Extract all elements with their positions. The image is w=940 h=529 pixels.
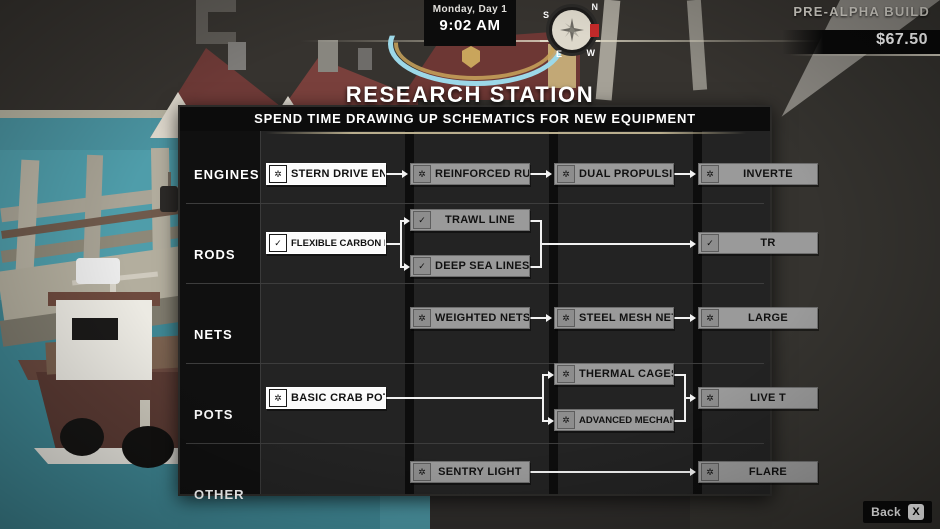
row-label-rods: RODS xyxy=(194,247,236,262)
node-weighted-nets[interactable]: ✲ WEIGHTED NETS xyxy=(410,307,530,329)
node-label: TRAWL LINE xyxy=(431,214,529,226)
connector-arrow xyxy=(690,314,696,322)
node-deep-sea-lines[interactable]: ✓ DEEP SEA LINES xyxy=(410,255,530,277)
gear-icon: ✲ xyxy=(701,463,719,481)
connector-arrow xyxy=(546,314,552,322)
research-panel: SPEND TIME DRAWING UP SCHEMATICS FOR NEW… xyxy=(178,105,772,496)
gear-icon: ✲ xyxy=(557,165,575,183)
node-dual-propulsion[interactable]: ✲ DUAL PROPULSION xyxy=(554,163,674,185)
node-live-tank[interactable]: ✲ LIVE T xyxy=(698,387,818,409)
node-sentry-light[interactable]: ✲ SENTRY LIGHT xyxy=(410,461,530,483)
connector-arrow xyxy=(546,170,552,178)
build-tag: PRE-ALPHA BUILD xyxy=(793,4,930,19)
node-label: LARGE xyxy=(719,312,817,324)
node-advanced-mechanisms[interactable]: ✲ ADVANCED MECHANISMS xyxy=(554,409,674,431)
compass-n-label: N xyxy=(592,2,599,12)
node-label: FLEXIBLE CARBON FIBRE xyxy=(287,238,385,249)
connector xyxy=(400,220,402,268)
node-steel-mesh-nets[interactable]: ✲ STEEL MESH NETS xyxy=(554,307,674,329)
game-screen: Monday, Day 1 9:02 AM N E S W PRE-ALPHA … xyxy=(0,0,940,529)
node-label: THERMAL CAGES xyxy=(575,368,673,380)
node-label: SENTRY LIGHT xyxy=(431,466,529,478)
gear-icon: ✲ xyxy=(269,165,287,183)
check-icon: ✓ xyxy=(413,257,431,275)
compass-e-label: E xyxy=(556,49,562,59)
node-basic-crab-pots[interactable]: ✲ BASIC CRAB POTS xyxy=(266,387,386,409)
row-divider-3 xyxy=(186,363,764,364)
gear-icon: ✲ xyxy=(269,389,287,407)
subtitle-underline xyxy=(266,132,746,134)
gear-icon: ✲ xyxy=(557,411,575,429)
connector-arrow xyxy=(690,240,696,248)
check-icon: ✓ xyxy=(413,211,431,229)
gear-icon: ✲ xyxy=(557,309,575,327)
time-label: 9:02 AM xyxy=(424,17,516,34)
panel-subtitle: SPEND TIME DRAWING UP SCHEMATICS FOR NEW… xyxy=(180,107,770,131)
row-divider-4 xyxy=(186,443,764,444)
row-label-engines: ENGINES xyxy=(194,167,260,182)
gear-icon: ✲ xyxy=(701,309,719,327)
node-label: INVERTE xyxy=(719,168,817,180)
row-label-pots: POTS xyxy=(194,407,233,422)
row-divider-2 xyxy=(186,283,764,284)
node-label: ADVANCED MECHANISMS xyxy=(575,415,673,426)
node-label: TR xyxy=(719,237,817,249)
compass-icon: N E S W xyxy=(546,4,598,56)
connector xyxy=(528,471,694,473)
check-icon: ✓ xyxy=(701,234,719,252)
connector-arrow xyxy=(402,170,408,178)
gear-icon: ✲ xyxy=(557,365,575,383)
node-trawl-line[interactable]: ✓ TRAWL LINE xyxy=(410,209,530,231)
compass-s-label: S xyxy=(543,10,549,20)
connector xyxy=(540,243,694,245)
money-amount: $67.50 xyxy=(876,31,928,49)
compass-star-icon xyxy=(560,18,584,42)
connector-arrow xyxy=(690,170,696,178)
column-band-1 xyxy=(260,131,405,494)
node-label: DEEP SEA LINES xyxy=(431,260,529,272)
node-stern-drive-engine[interactable]: ✲ STERN DRIVE ENGINE xyxy=(266,163,386,185)
node-label: WEIGHTED NETS xyxy=(431,312,529,324)
connector-arrow xyxy=(690,394,696,402)
research-grid: ENGINES RODS NETS POTS OTHER ✲ STERN DRI… xyxy=(180,131,770,494)
back-button-label: Back xyxy=(871,505,901,519)
row-divider-1 xyxy=(186,203,764,204)
gear-icon: ✲ xyxy=(413,309,431,327)
gear-icon: ✲ xyxy=(413,165,431,183)
node-label: STEEL MESH NETS xyxy=(575,312,673,324)
node-thermal-cages[interactable]: ✲ THERMAL CAGES xyxy=(554,363,674,385)
node-large-nets[interactable]: ✲ LARGE xyxy=(698,307,818,329)
node-label: REINFORCED RUDDER xyxy=(431,168,529,180)
row-label-other: OTHER xyxy=(194,487,245,502)
node-inverter[interactable]: ✲ INVERTE xyxy=(698,163,818,185)
gear-icon: ✲ xyxy=(701,389,719,407)
node-label: DUAL PROPULSION xyxy=(575,168,673,180)
row-label-nets: NETS xyxy=(194,327,233,342)
clock-widget: Monday, Day 1 9:02 AM xyxy=(424,0,516,46)
node-label: BASIC CRAB POTS xyxy=(287,392,385,404)
day-label: Monday, Day 1 xyxy=(424,0,516,15)
node-reinforced-rudder[interactable]: ✲ REINFORCED RUDDER xyxy=(410,163,530,185)
money-underline xyxy=(790,54,940,56)
connector xyxy=(542,374,544,422)
node-rods-tier4[interactable]: ✓ TR xyxy=(698,232,818,254)
gear-icon: ✲ xyxy=(701,165,719,183)
node-label: STERN DRIVE ENGINE xyxy=(287,168,385,180)
back-button[interactable]: Back X xyxy=(863,501,932,523)
connector xyxy=(384,397,544,399)
label-column-divider xyxy=(260,131,261,494)
gear-icon: ✲ xyxy=(413,463,431,481)
node-flare[interactable]: ✲ FLARE xyxy=(698,461,818,483)
node-label: FLARE xyxy=(719,466,817,478)
compass-w-label: W xyxy=(587,48,596,58)
x-key-icon: X xyxy=(908,504,924,520)
connector-arrow xyxy=(690,468,696,476)
check-icon: ✓ xyxy=(269,234,287,252)
compass-needle xyxy=(590,24,599,37)
node-label: LIVE T xyxy=(719,392,817,404)
row-label-column xyxy=(180,131,260,494)
node-flexible-carbon-fibre[interactable]: ✓ FLEXIBLE CARBON FIBRE xyxy=(266,232,386,254)
